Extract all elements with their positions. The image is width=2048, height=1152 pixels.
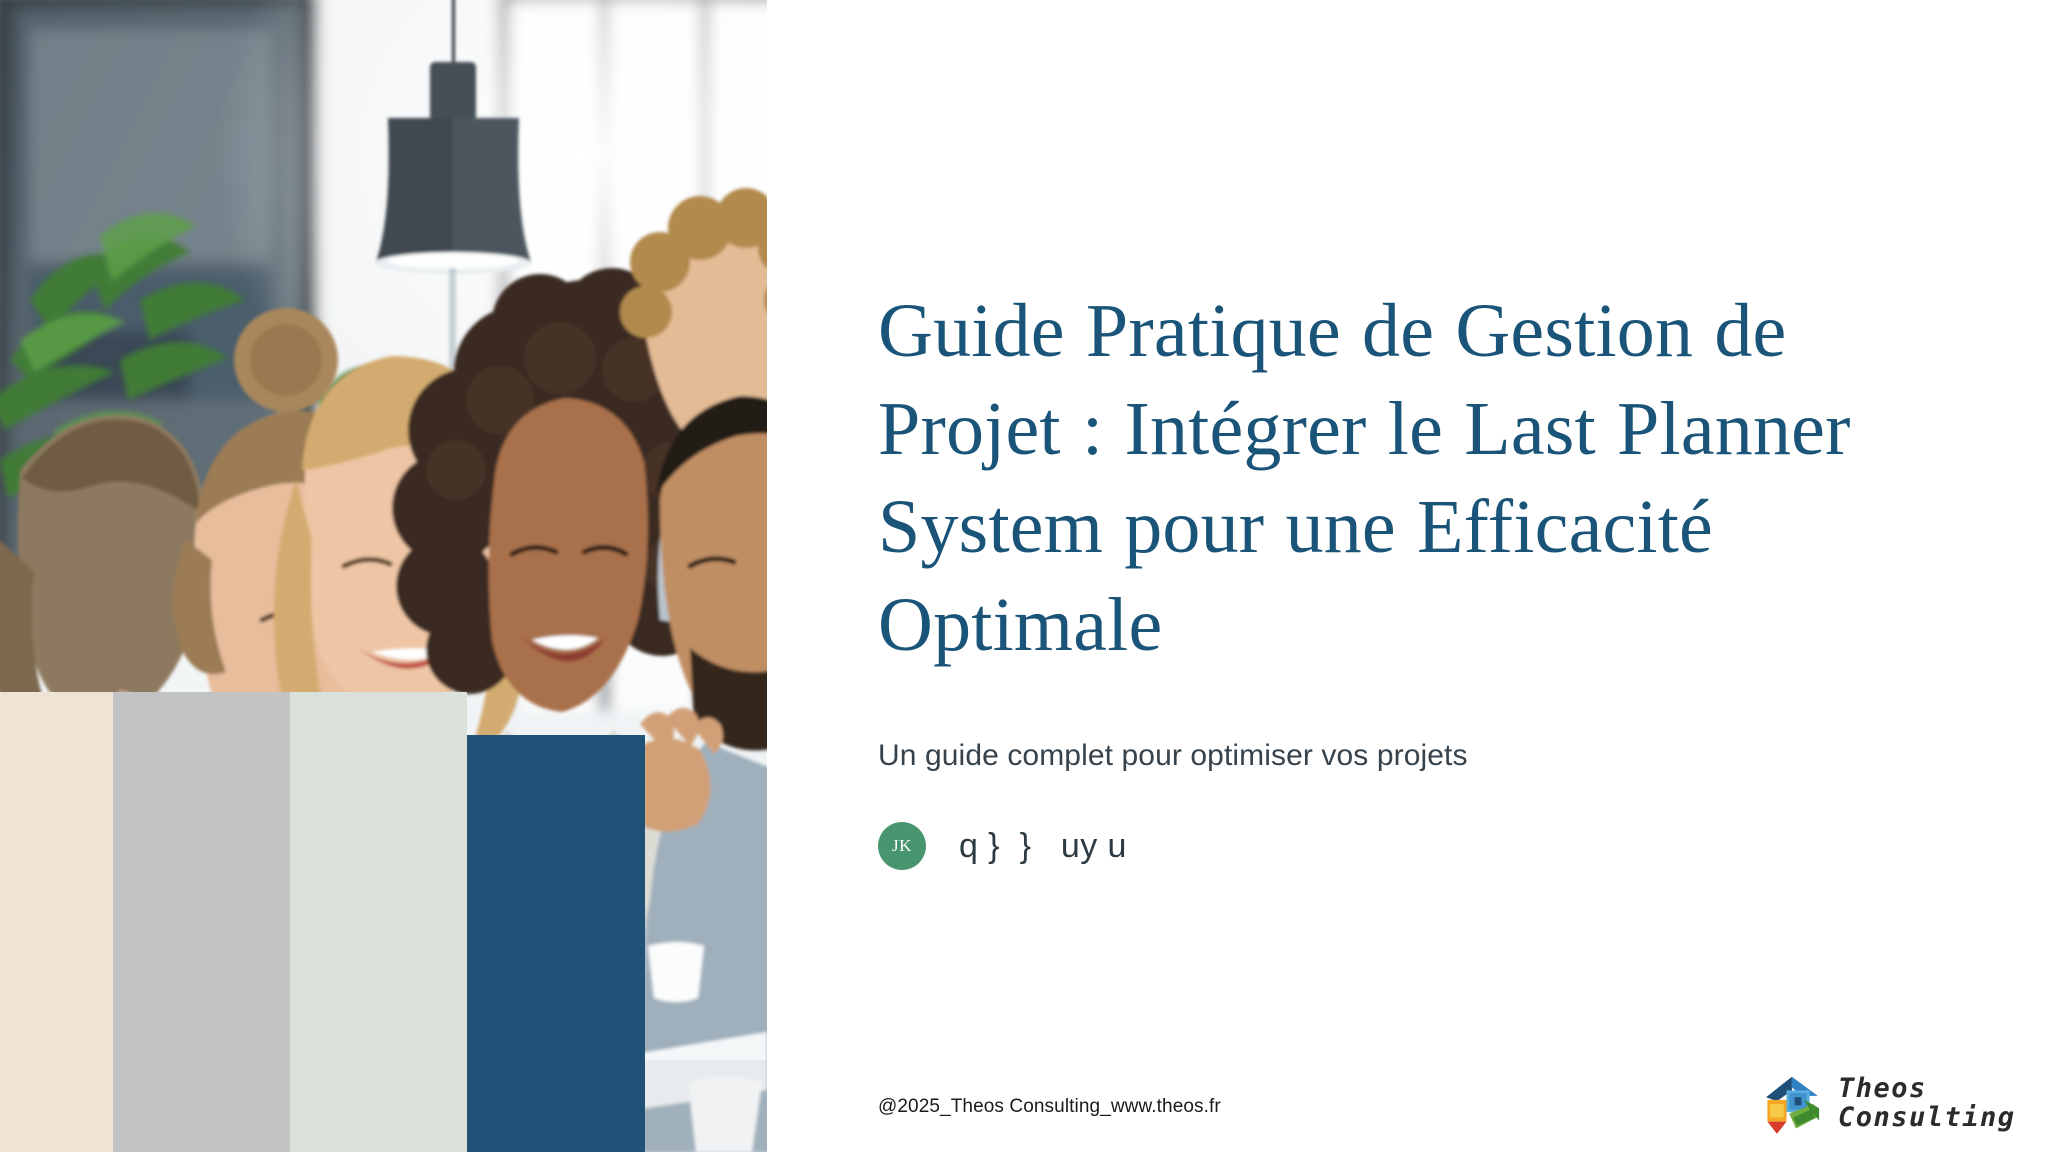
- color-swatch-navy: [467, 735, 645, 1152]
- page-subtitle: Un guide complet pour optimiser vos proj…: [878, 737, 1468, 775]
- author-byline: JK q } } uy u: [878, 818, 1127, 874]
- logo-line-theos: Theos: [1838, 1075, 2016, 1104]
- theos-consulting-logo: Theos Consulting: [1762, 1068, 2032, 1140]
- color-swatch-gray: [113, 692, 290, 1152]
- color-swatch-beige: [0, 692, 113, 1152]
- author-name: q } } uy u: [959, 826, 1127, 866]
- logo-line-consulting: Consulting: [1838, 1104, 2016, 1133]
- footer-copyright: @2025_Theos Consulting_www.theos.fr: [878, 1096, 1221, 1118]
- logo-wordmark: Theos Consulting: [1838, 1075, 2016, 1132]
- hero-image: [0, 0, 767, 1152]
- slide-root: Guide Pratique de Gestion de Projet : In…: [0, 0, 2048, 1152]
- content-column: Guide Pratique de Gestion de Projet : In…: [878, 0, 2048, 1152]
- avatar: JK: [878, 822, 926, 870]
- page-title: Guide Pratique de Gestion de Projet : In…: [878, 282, 1873, 674]
- cube-logo-icon: [1762, 1070, 1830, 1138]
- color-swatch-sage: [290, 692, 467, 1152]
